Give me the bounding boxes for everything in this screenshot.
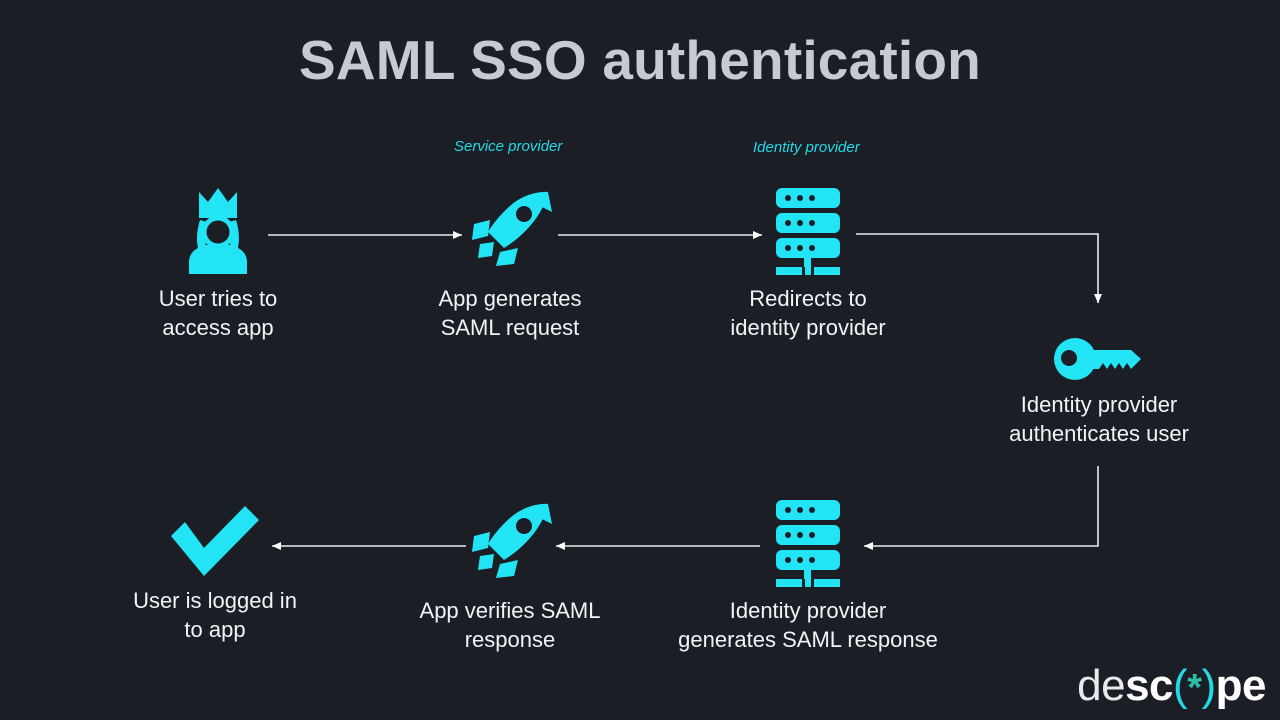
logo-part-de: de [1077, 664, 1125, 708]
lane-label-service-provider: Service provider [454, 138, 562, 155]
node-caption: User tries to access app [118, 284, 318, 342]
server-icon [773, 498, 843, 588]
node-caption: App verifies SAML response [410, 596, 610, 654]
node-idp-response: Identity provider generates SAML respons… [668, 498, 948, 654]
logo-asterisk: * [1187, 669, 1201, 707]
logo-paren-open: ( [1173, 664, 1187, 708]
lane-label-identity-provider: Identity provider [753, 139, 860, 156]
node-user-logged-in: User is logged in to app [115, 498, 315, 644]
node-caption: User is logged in to app [115, 586, 315, 644]
rocket-icon [464, 498, 556, 588]
node-app-request: App generates SAML request [410, 186, 610, 342]
key-icon [1053, 336, 1145, 382]
user-crown-icon [181, 186, 255, 276]
logo-paren-close: ) [1201, 664, 1215, 708]
descope-logo: de sc ( * ) pe [1077, 664, 1266, 708]
logo-part-sc: sc [1125, 664, 1173, 708]
node-idp-auth: Identity provider authenticates user [999, 336, 1199, 448]
node-caption: App generates SAML request [410, 284, 610, 342]
node-caption: Identity provider authenticates user [999, 390, 1199, 448]
node-app-verify: App verifies SAML response [410, 498, 610, 654]
server-icon [773, 186, 843, 276]
logo-part-pe: pe [1216, 664, 1266, 708]
rocket-icon [464, 186, 556, 276]
node-caption: Redirects to identity provider [708, 284, 908, 342]
page-title: SAML SSO authentication [0, 28, 1280, 92]
node-redirect-idp: Redirects to identity provider [708, 186, 908, 342]
node-caption: Identity provider generates SAML respons… [668, 596, 948, 654]
diagram-canvas: SAML SSO authentication Service provider… [0, 0, 1280, 720]
node-user-access: User tries to access app [118, 186, 318, 342]
check-icon [165, 498, 265, 578]
